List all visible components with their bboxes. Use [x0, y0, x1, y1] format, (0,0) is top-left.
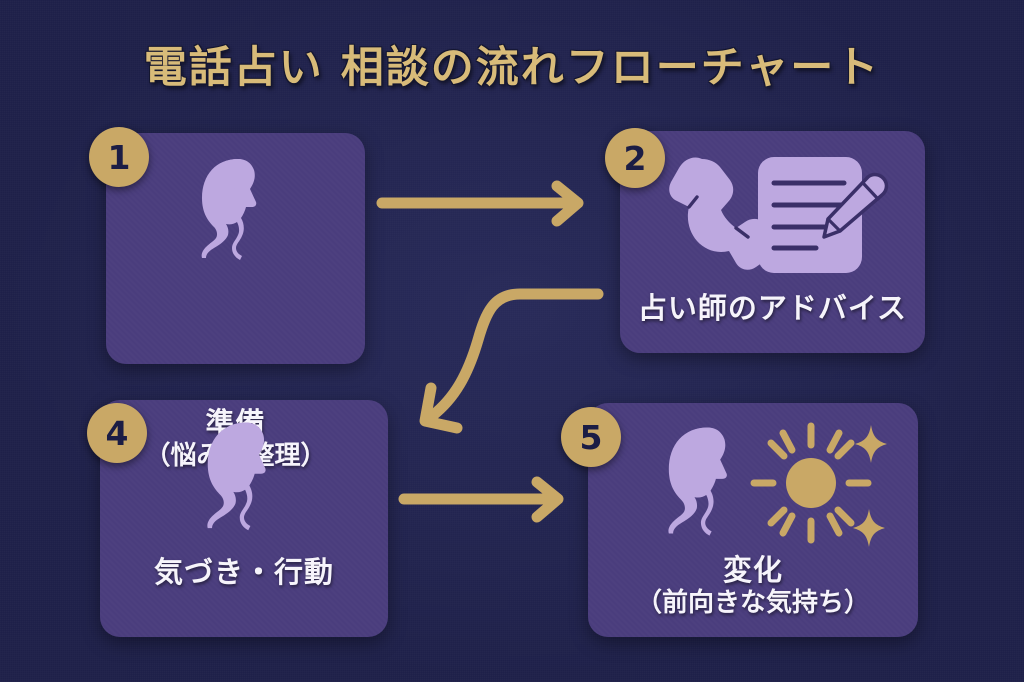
page-title: 電話占い 相談の流れフローチャート	[0, 33, 1024, 95]
step-card-5-label: 変化 （前向きな気持ち）	[588, 553, 918, 620]
step-badge-1: 1	[89, 127, 149, 187]
arrow-step1-to-step2	[382, 186, 578, 221]
step-card-5-label-line1: 変化	[588, 553, 918, 588]
woman-head-sun-sparkle-icon	[588, 413, 918, 553]
step-card-2-label: 占い師のアドバイス	[620, 291, 925, 326]
step-card-5-label-line2: （前向きな気持ち）	[588, 588, 918, 620]
step-badge-2: 2	[605, 128, 665, 188]
phone-and-document-pencil-icon	[620, 151, 925, 276]
step-badge-5: 5	[561, 407, 621, 467]
step-badge-4: 4	[87, 403, 147, 463]
step-card-2-label-line1: 占い師のアドバイス	[620, 291, 925, 326]
arrow-step2-to-step4	[425, 294, 598, 428]
step-card-5[interactable]: 変化 （前向きな気持ち）	[588, 403, 918, 637]
sun-icon	[754, 426, 868, 540]
step-card-4-label-line1: 気づき・行動	[100, 555, 388, 590]
step-card-2[interactable]: 占い師のアドバイス	[620, 131, 925, 353]
step-card-4-label: 気づき・行動	[100, 555, 388, 590]
flowchart-canvas: 電話占い 相談の流れフローチャート 準備 （悩みを整理） 1	[0, 0, 1024, 682]
arrow-step4-to-step5	[404, 482, 558, 517]
